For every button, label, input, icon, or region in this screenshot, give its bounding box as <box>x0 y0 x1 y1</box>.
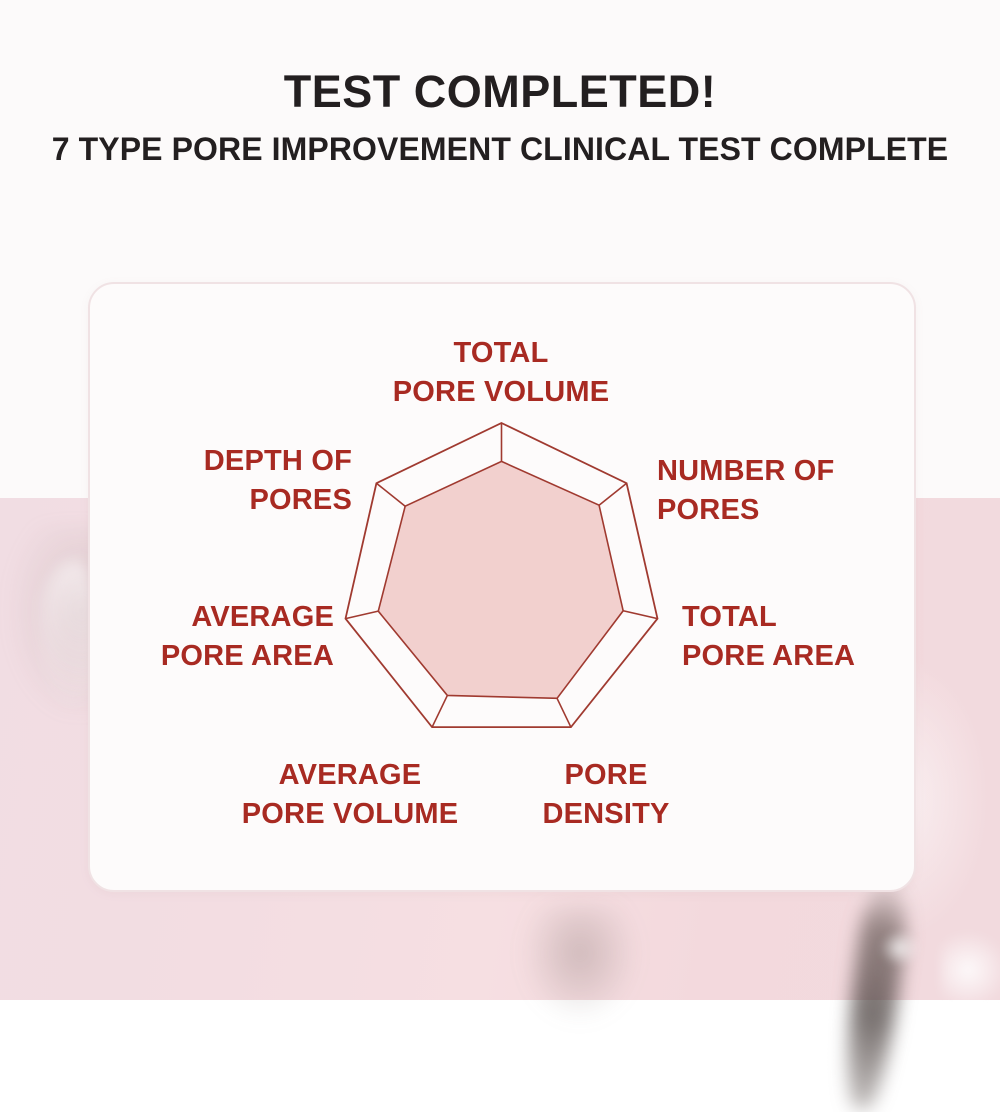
background-blur-smudge <box>520 905 640 1025</box>
axis-label-total-pore-volume: TOTAL PORE VOLUME <box>341 334 661 411</box>
axis-label-average-pore-area: AVERAGE PORE AREA <box>34 598 334 675</box>
page-subtitle: 7 TYPE PORE IMPROVEMENT CLINICAL TEST CO… <box>0 115 1000 167</box>
header: TEST COMPLETED! 7 TYPE PORE IMPROVEMENT … <box>0 0 1000 167</box>
page-title: TEST COMPLETED! <box>0 0 1000 115</box>
axis-label-total-pore-area: TOTAL PORE AREA <box>682 598 982 675</box>
axis-label-number-of-pores: NUMBER OF PORES <box>657 452 957 529</box>
axis-label-pore-density: PORE DENSITY <box>456 756 756 833</box>
background-highlight-right-secondary <box>880 930 920 966</box>
axis-label-average-pore-volume: AVERAGE PORE VOLUME <box>200 756 500 833</box>
background-highlight-right <box>940 930 1000 1010</box>
axis-label-depth-of-pores: DEPTH OF PORES <box>52 442 352 519</box>
